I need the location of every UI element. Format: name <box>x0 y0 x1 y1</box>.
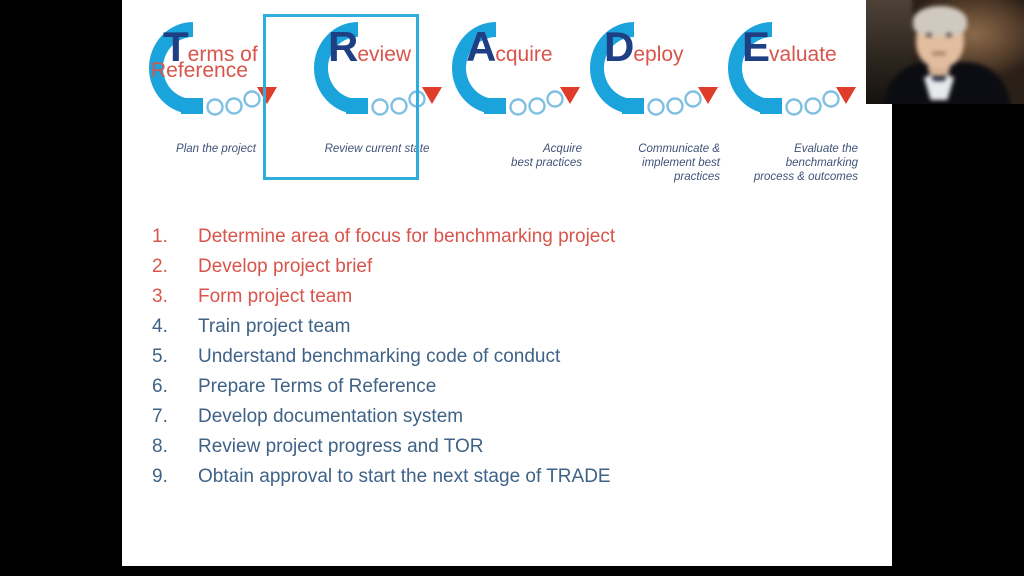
list-item: 2. Develop project brief <box>152 252 852 282</box>
trade-segment-evaluate[interactable]: Evaluate Evaluate the benchmarking proce… <box>720 0 862 192</box>
list-item-number: 6. <box>152 372 186 402</box>
trade-segment-caption: Acquire best practices <box>444 142 582 170</box>
list-item: 9. Obtain approval to start the next sta… <box>152 462 852 492</box>
trade-segment-word: Deploy <box>604 26 684 68</box>
list-item: 8. Review project progress and TOR <box>152 432 852 462</box>
list-item: 5. Understand benchmarking code of condu… <box>152 342 852 372</box>
list-item-label: Form project team <box>198 282 352 312</box>
trade-segment-acquire[interactable]: Acquire Acquire best practices <box>444 0 586 192</box>
list-item-number: 1. <box>152 222 186 252</box>
trade-segment-letter: E <box>742 23 769 70</box>
list-item: 1. Determine area of focus for benchmark… <box>152 222 852 252</box>
trade-segment-caption: Communicate & implement best practices <box>582 142 720 184</box>
trade-segment-caption: Review current state <box>302 142 452 156</box>
list-item-label: Obtain approval to start the next stage … <box>198 462 611 492</box>
trade-segment-terms-of-reference[interactable]: Terms of Reference Plan the project <box>141 0 283 192</box>
list-item-number: 5. <box>152 342 186 372</box>
list-item: 3. Form project team <box>152 282 852 312</box>
list-item-number: 9. <box>152 462 186 492</box>
trade-segment-word: Acquire <box>466 26 553 68</box>
trade-segment-review[interactable]: Review Review current state <box>306 0 448 192</box>
trade-segment-word-line2: Reference <box>151 60 248 81</box>
list-item-label: Develop project brief <box>198 252 372 282</box>
agenda-list: 1. Determine area of focus for benchmark… <box>152 222 852 492</box>
list-item-label: Determine area of focus for benchmarking… <box>198 222 615 252</box>
trade-segment-letter: A <box>466 23 495 70</box>
list-item: 4. Train project team <box>152 312 852 342</box>
list-item-number: 3. <box>152 282 186 312</box>
slide-canvas: Terms of Reference Plan the project <box>122 0 892 566</box>
trade-segment-word-rest: eview <box>357 43 411 66</box>
list-item: 6. Prepare Terms of Reference <box>152 372 852 402</box>
list-item-number: 8. <box>152 432 186 462</box>
list-item-label: Review project progress and TOR <box>198 432 483 462</box>
trade-segment-deploy[interactable]: Deploy Communicate & implement best prac… <box>582 0 724 192</box>
list-item-label: Understand benchmarking code of conduct <box>198 342 560 372</box>
list-item-number: 4. <box>152 312 186 342</box>
trade-segment-word: Evaluate <box>742 26 837 68</box>
trade-process-diagram: Terms of Reference Plan the project <box>122 0 892 192</box>
trade-segment-letter: R <box>328 23 357 70</box>
webcam-blur-overlay <box>866 0 1024 104</box>
trade-segment-word-rest: valuate <box>769 43 837 66</box>
presentation-stage: Terms of Reference Plan the project <box>0 0 1024 576</box>
trade-segment-word-rest: eploy <box>633 43 683 66</box>
trade-segment-caption: Evaluate the benchmarking process & outc… <box>720 142 858 184</box>
list-item-number: 2. <box>152 252 186 282</box>
trade-segment-letter: D <box>604 23 633 70</box>
list-item-number: 7. <box>152 402 186 432</box>
list-item-label: Develop documentation system <box>198 402 463 432</box>
list-item-label: Prepare Terms of Reference <box>198 372 436 402</box>
list-item-label: Train project team <box>198 312 350 342</box>
presenter-video-thumbnail[interactable] <box>866 0 1024 104</box>
trade-segment-word-rest: cquire <box>495 43 552 66</box>
trade-segment-word: Review <box>328 26 411 68</box>
list-item: 7. Develop documentation system <box>152 402 852 432</box>
trade-segment-caption: Plan the project <box>145 142 287 156</box>
